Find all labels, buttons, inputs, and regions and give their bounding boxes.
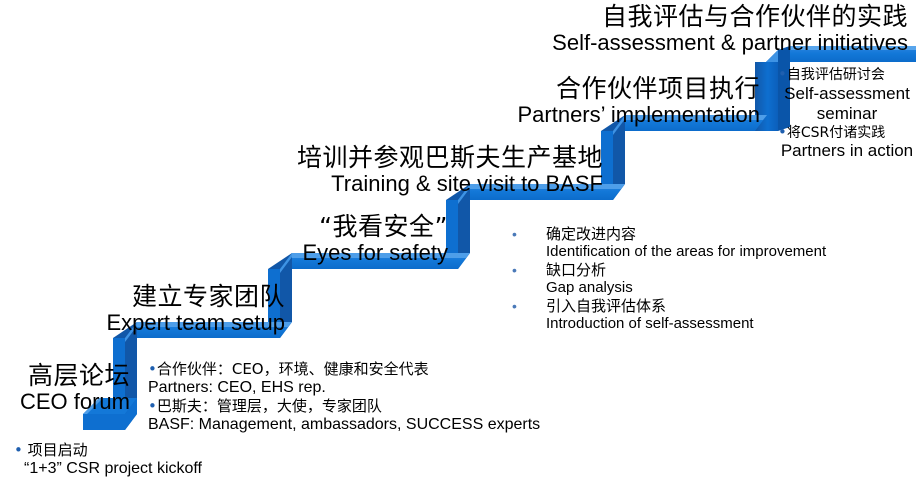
bullet-marker-icon: •	[512, 225, 546, 244]
bullet-en: Self-assessment	[778, 84, 916, 104]
bullet-marker-icon: •	[778, 65, 787, 83]
step-label-5: 合作伙伴项目执行 Partners’ implementation	[0, 75, 760, 128]
bullet-en: Gap analysis	[546, 279, 633, 297]
bullet-en: “1+3” CSR project kickoff	[14, 459, 202, 478]
first-step-bullet-list: •合作伙伴：CEO，环境、健康和安全代表 Partners: CEO, EHS …	[148, 360, 540, 434]
middle-bullet-list: • 确定改进内容 Identification of the areas for…	[512, 225, 826, 333]
step-label-3: “我看安全” Eyes for safety	[0, 213, 448, 266]
staircase-diagram-slide: 高层论坛 CEO forum 建立专家团队 Expert team setup …	[0, 0, 916, 482]
step-label-2-zh: 建立专家团队	[0, 283, 285, 311]
step-label-6-en: Self-assessment & partner initiatives	[0, 31, 908, 56]
step-label-6: 自我评估与合作伙伴的实践 Self-assessment & partner i…	[0, 3, 908, 56]
bullet-item: •自我评估研讨会 Self-assessment seminar	[778, 66, 916, 124]
bullet-item: •巴斯夫：管理层，大使，专家团队 BASF: Management, ambas…	[148, 397, 540, 434]
bullet-item: • 引入自我评估体系 Introduction of self-assessme…	[512, 297, 826, 333]
bullet-marker-icon: •	[512, 297, 546, 316]
step-label-2: 建立专家团队 Expert team setup	[0, 283, 285, 336]
bullet-marker-icon: •	[148, 360, 157, 378]
bullet-en: Introduction of self-assessment	[546, 315, 754, 333]
bullet-item: •将CSR付诸实践 Partners in action	[778, 124, 916, 162]
bullet-zh: 巴斯夫：管理层，大使，专家团队	[157, 397, 382, 415]
step-label-5-zh: 合作伙伴项目执行	[0, 75, 760, 103]
bullet-en: Identification of the areas for improvem…	[546, 243, 826, 261]
bullet-item: • 缺口分析 Gap analysis	[512, 261, 826, 297]
bullet-en-cont: seminar	[778, 104, 916, 124]
top-bullet-list: •自我评估研讨会 Self-assessment seminar •将CSR付诸…	[778, 66, 916, 162]
bullet-zh: 将CSR付诸实践	[787, 125, 885, 141]
step-label-4: 培训并参观巴斯夫生产基地 Training & site visit to BA…	[0, 144, 603, 197]
step-label-3-zh: “我看安全”	[0, 213, 448, 241]
bullet-item: • 确定改进内容 Identification of the areas for…	[512, 225, 826, 261]
bullet-zh: 引入自我评估体系	[546, 297, 754, 315]
bullet-zh: 项目启动	[28, 441, 88, 459]
step-label-4-zh: 培训并参观巴斯夫生产基地	[0, 144, 603, 172]
bullet-zh: 合作伙伴：CEO，环境、健康和安全代表	[157, 360, 429, 378]
bullet-en: BASF: Management, ambassadors, SUCCESS e…	[148, 415, 540, 434]
bullet-marker-icon: •	[148, 397, 157, 415]
bullet-zh: 确定改进内容	[546, 225, 826, 243]
bullet-en: Partners: CEO, EHS rep.	[148, 378, 540, 397]
step-label-3-en: Eyes for safety	[0, 241, 448, 266]
bullet-marker-icon: •	[778, 123, 787, 141]
step-label-6-zh: 自我评估与合作伙伴的实践	[0, 3, 908, 31]
step-label-5-en: Partners’ implementation	[0, 103, 760, 128]
step-label-4-en: Training & site visit to BASF	[0, 172, 603, 197]
bullet-marker-icon: •	[512, 261, 546, 280]
bullet-item: •合作伙伴：CEO，环境、健康和安全代表 Partners: CEO, EHS …	[148, 360, 540, 397]
step-label-1-en: CEO forum	[0, 390, 130, 415]
bullet-en: Partners in action	[778, 141, 916, 161]
step-label-2-en: Expert team setup	[0, 311, 285, 336]
bottom-bullet-list: • 项目启动 “1+3” CSR project kickoff	[14, 441, 202, 478]
bullet-zh: 缺口分析	[546, 261, 633, 279]
step-label-1-zh: 高层论坛	[0, 362, 130, 390]
bullet-item: • 项目启动 “1+3” CSR project kickoff	[14, 441, 202, 478]
bullet-marker-icon: •	[14, 441, 23, 459]
bullet-zh: 自我评估研讨会	[787, 67, 885, 83]
step-label-1: 高层论坛 CEO forum	[0, 362, 130, 415]
